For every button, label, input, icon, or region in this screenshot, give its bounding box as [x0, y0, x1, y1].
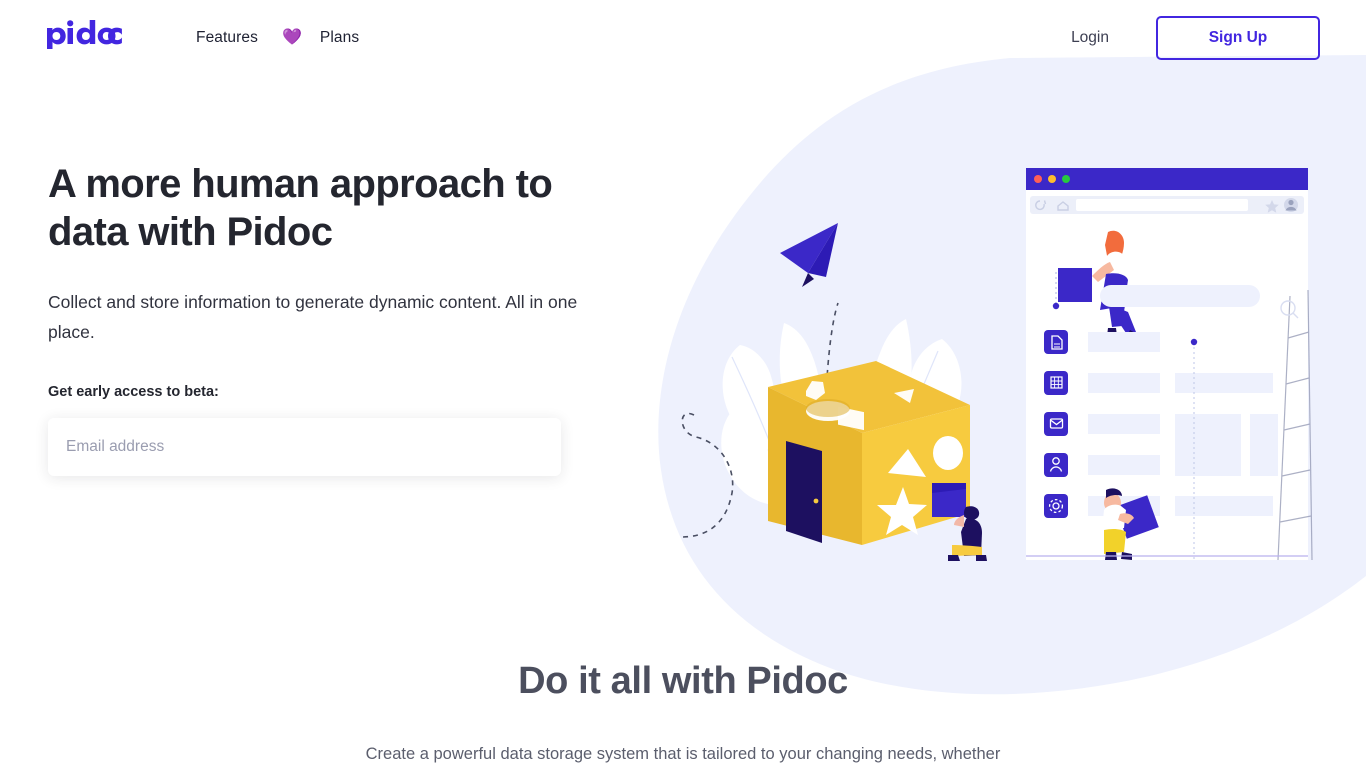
- login-link[interactable]: Login: [1071, 29, 1109, 47]
- logo-pidoc[interactable]: [46, 20, 124, 55]
- cube-top-hole-shadows: [806, 399, 850, 417]
- sign-up-button[interactable]: Sign Up: [1156, 16, 1320, 60]
- section-title: Do it all with Pidoc: [0, 660, 1366, 703]
- beta-signup-form: [48, 418, 561, 476]
- avatar-icon: [1284, 198, 1298, 212]
- url-field[interactable]: [1076, 199, 1248, 211]
- content-pill: [1100, 285, 1260, 307]
- hero-subtitle: Collect and store information to generat…: [48, 287, 628, 347]
- top-navigation: Features 💜 Plans Login Sign Up: [0, 0, 1366, 75]
- email-input[interactable]: [48, 418, 561, 476]
- nav-links: Features 💜 Plans: [194, 25, 361, 51]
- document-icon[interactable]: [1044, 330, 1068, 354]
- landing-page: Features 💜 Plans Login Sign Up A more hu…: [0, 0, 1366, 768]
- hero-section: A more human approach to data with Pidoc…: [48, 160, 668, 476]
- shape-sorter-cube-illustration: [680, 215, 1010, 575]
- nav-right-group: Login Sign Up: [1071, 16, 1366, 60]
- cube-door: [786, 441, 822, 543]
- envelope-icon[interactable]: [1044, 412, 1068, 436]
- user-icon[interactable]: [1044, 453, 1068, 477]
- purple-heart-icon: 💜: [282, 30, 302, 46]
- traffic-lights: [1034, 175, 1070, 183]
- beta-form-label: Get early access to beta:: [48, 384, 668, 400]
- nav-link-features[interactable]: Features: [194, 25, 260, 51]
- nav-link-plans[interactable]: Plans: [318, 25, 361, 51]
- nav-left-group: Features 💜 Plans: [0, 20, 361, 55]
- page-title: A more human approach to data with Pidoc: [48, 160, 608, 256]
- browser-window-illustration: [1020, 160, 1320, 580]
- connector-dot: [1053, 303, 1059, 309]
- features-intro-section: Do it all with Pidoc Create a powerful d…: [0, 660, 1366, 767]
- purple-square-block: [932, 483, 966, 517]
- paper-plane-icon: [780, 223, 838, 287]
- table-grid-icon[interactable]: [1044, 371, 1068, 395]
- logo-icon: [46, 20, 124, 50]
- vertical-line-dot: [1191, 339, 1197, 345]
- section-body: Create a powerful data storage system th…: [338, 741, 1028, 767]
- gear-icon[interactable]: [1044, 494, 1068, 518]
